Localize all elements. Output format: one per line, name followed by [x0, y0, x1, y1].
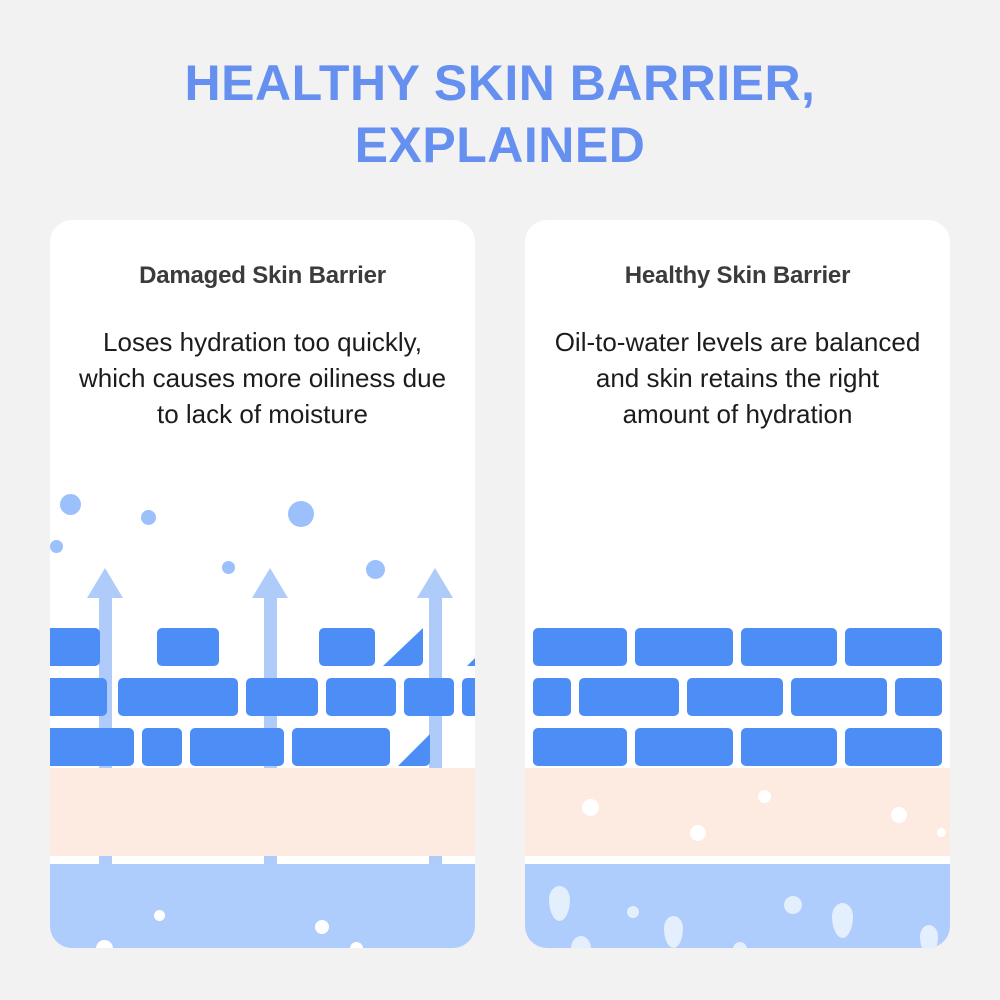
moisture-bubble: [222, 561, 235, 574]
brick: [741, 628, 837, 666]
arrow-head-icon: [417, 568, 453, 598]
brick: [895, 678, 942, 716]
brick: [579, 678, 679, 716]
brick: [845, 728, 942, 766]
water-droplet: [571, 936, 591, 948]
brick: [741, 728, 837, 766]
brick: [635, 728, 733, 766]
oil-dot: [891, 807, 907, 823]
card-damaged-heading: Damaged Skin Barrier: [50, 262, 475, 290]
brick: [462, 678, 475, 716]
water-dot: [627, 906, 639, 918]
water-droplet: [549, 886, 570, 921]
oil-layer: [525, 768, 950, 856]
oil-dot: [937, 828, 946, 837]
page-title: HEALTHY SKIN BARRIER, EXPLAINED: [0, 52, 1000, 176]
brick: [404, 678, 454, 716]
broken-brick-fragment: [398, 734, 430, 766]
water-layer: [50, 864, 475, 948]
broken-brick-fragment: [383, 628, 423, 666]
brick: [157, 628, 219, 666]
moisture-bubble: [288, 501, 314, 527]
water-dot: [154, 910, 165, 921]
moisture-bubble: [141, 510, 156, 525]
brick: [791, 678, 887, 716]
card-damaged-skin-barrier: Damaged Skin Barrier Loses hydration too…: [50, 220, 475, 948]
oil-dot: [582, 799, 599, 816]
broken-brick-fragment: [467, 644, 475, 666]
moisture-bubble: [60, 494, 81, 515]
brick: [687, 678, 783, 716]
card-healthy-heading: Healthy Skin Barrier: [525, 262, 950, 290]
oil-dot: [758, 790, 771, 803]
brick: [319, 628, 375, 666]
water-dot: [96, 940, 113, 948]
water-droplet: [832, 903, 853, 938]
brick: [845, 628, 942, 666]
brick: [50, 628, 100, 666]
page-title-line-1: HEALTHY SKIN BARRIER,: [0, 52, 1000, 114]
arrow-head-icon: [252, 568, 288, 598]
moisture-bubble: [366, 560, 385, 579]
water-dot: [350, 942, 363, 948]
brick: [118, 678, 238, 716]
brick: [142, 728, 182, 766]
water-dot: [784, 896, 802, 914]
brick: [50, 728, 134, 766]
card-healthy-body-text: Oil-to-water levels are balanced and ski…: [553, 324, 922, 432]
oil-layer: [50, 768, 475, 856]
brick: [190, 728, 284, 766]
brick: [50, 678, 107, 716]
oil-dot: [690, 825, 706, 841]
water-layer: [525, 864, 950, 948]
card-damaged-body-text: Loses hydration too quickly, which cause…: [78, 324, 447, 432]
arrow-head-icon: [87, 568, 123, 598]
brick: [246, 678, 318, 716]
water-droplet: [920, 925, 938, 948]
page-title-line-2: EXPLAINED: [0, 114, 1000, 176]
brick: [533, 728, 627, 766]
card-healthy-skin-barrier: Healthy Skin Barrier Oil-to-water levels…: [525, 220, 950, 948]
brick: [326, 678, 396, 716]
brick: [533, 628, 627, 666]
water-dot: [733, 942, 747, 948]
brick: [533, 678, 571, 716]
water-droplet: [664, 916, 683, 948]
brick: [635, 628, 733, 666]
brick: [292, 728, 390, 766]
moisture-bubble: [50, 540, 63, 553]
water-dot: [315, 920, 329, 934]
